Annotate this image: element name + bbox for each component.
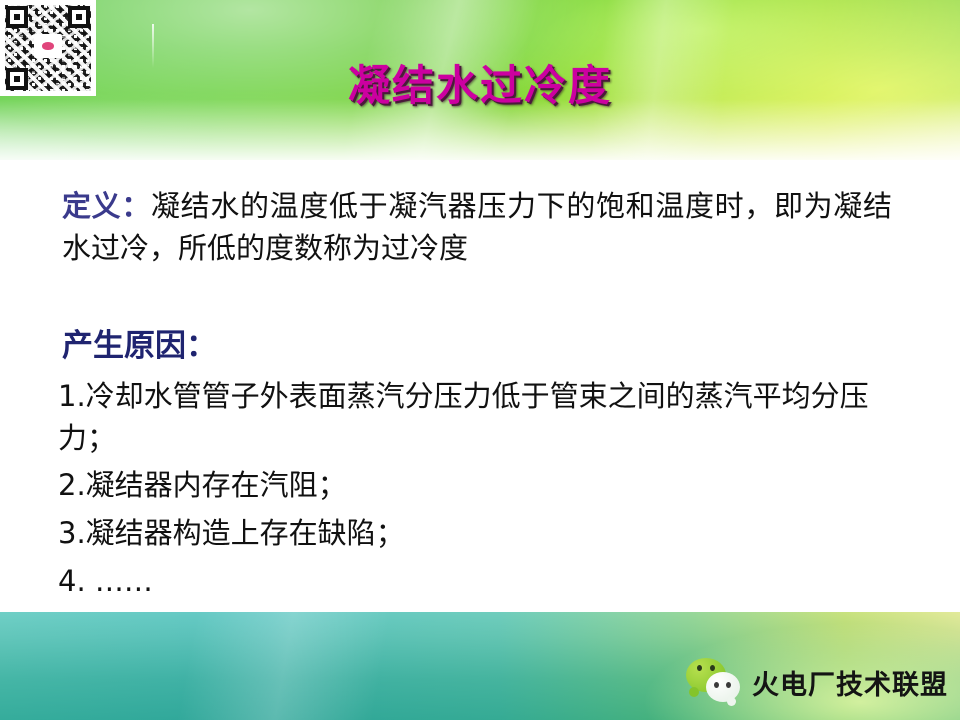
wechat-eye-white-left (714, 682, 719, 688)
wechat-eye-green-right (710, 665, 715, 671)
wechat-eye-white-right (726, 682, 731, 688)
slide-body: 定义：凝结水的温度低于凝汽器压力下的饱和温度时，即为凝结水过冷，所低的度数称为过… (0, 160, 960, 612)
list-item: 2.凝结器内存在汽阻； (58, 463, 908, 507)
list-item: 1.冷却水管管子外表面蒸汽分压力低于管束之间的蒸汽平均分压力； (58, 375, 908, 459)
qr-logo-mark (42, 42, 54, 50)
wechat-bubble-front (706, 672, 740, 702)
causes-heading: 产生原因： (62, 328, 217, 364)
list-item: 4. …… (58, 559, 908, 603)
wechat-icon (686, 656, 742, 708)
footer-watermark: 火电厂技术联盟 (686, 656, 948, 708)
slide-canvas: 凝结水过冷度 定义：凝结水的温度低于凝汽器压力下的饱和温度时，即为凝结水过冷，所… (0, 0, 960, 720)
qr-finder-top-right-icon (68, 6, 90, 28)
causes-list: 1.冷却水管管子外表面蒸汽分压力低于管束之间的蒸汽平均分压力； 2.凝结器内存在… (58, 375, 908, 607)
list-item: 3.凝结器构造上存在缺陷； (58, 511, 908, 555)
wechat-eye-green-left (697, 665, 702, 671)
qr-finder-top-left-icon (6, 6, 28, 28)
causes-heading-row: 产生原因： (62, 328, 217, 365)
definition-paragraph: 定义：凝结水的温度低于凝汽器压力下的饱和温度时，即为凝结水过冷，所低的度数称为过… (62, 185, 892, 270)
definition-text: 凝结水的温度低于凝汽器压力下的饱和温度时，即为凝结水过冷，所低的度数称为过冷度 (62, 189, 892, 265)
watermark-label: 火电厂技术联盟 (752, 663, 948, 702)
page-title: 凝结水过冷度 (0, 52, 960, 113)
definition-label: 定义： (62, 189, 151, 223)
